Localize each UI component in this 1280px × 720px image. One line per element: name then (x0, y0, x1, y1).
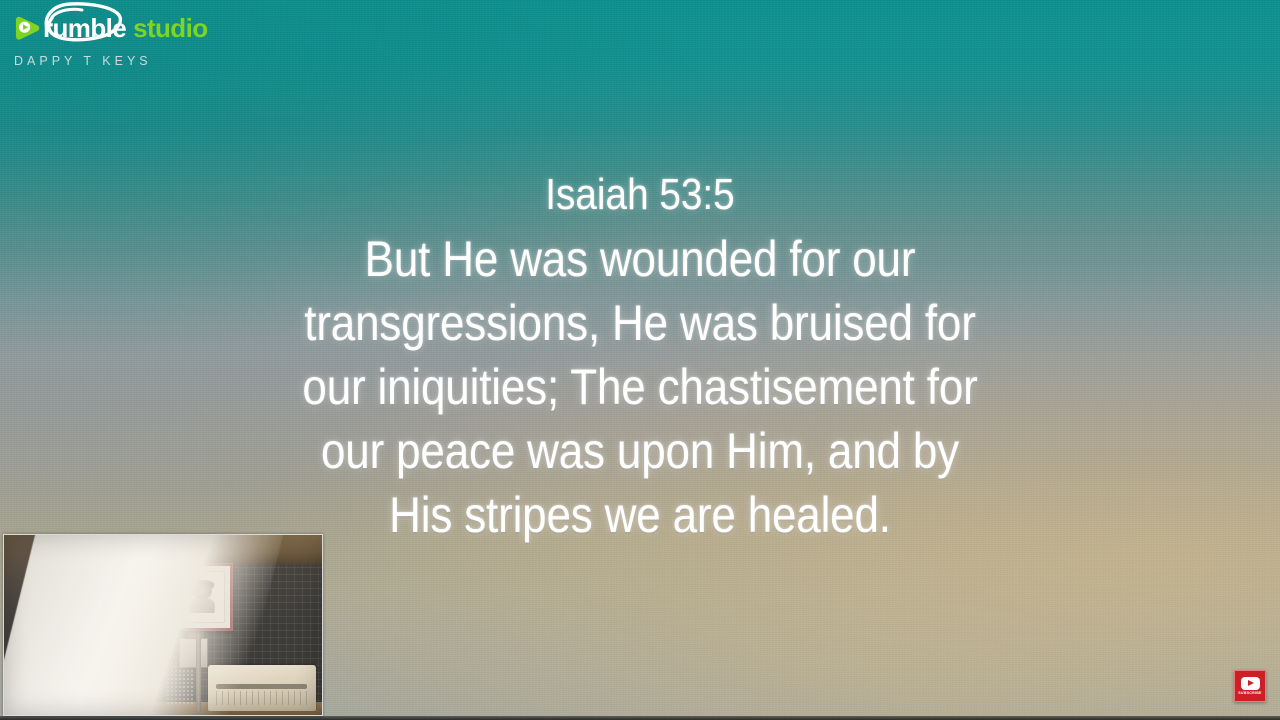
scripture-line: transgressions, He was bruised for (182, 291, 1097, 355)
scripture-line: our peace was upon Him, and by (182, 419, 1097, 483)
camera-scene (4, 535, 322, 715)
rumble-play-icon (12, 13, 42, 43)
brand-tagline: DAPPY T KEYS (14, 54, 312, 68)
youtube-play-icon (1241, 677, 1260, 690)
brand-logo-row: rumble studio (12, 6, 312, 50)
subscribe-button[interactable]: SUBSCRIBE (1234, 670, 1266, 702)
brand-name-secondary: studio (133, 15, 207, 41)
brand-name-primary: rumble (43, 15, 126, 41)
camera-curtain-shading (4, 535, 286, 715)
stream-canvas: rumble studio DAPPY T KEYS Isaiah 53:5 B… (0, 0, 1280, 720)
scripture-text-block: Isaiah 53:5 But He was wounded for our t… (0, 163, 1280, 547)
brand-watermark: rumble studio DAPPY T KEYS (12, 6, 312, 68)
camera-feed-overlay[interactable] (3, 534, 323, 716)
scripture-reference: Isaiah 53:5 (182, 163, 1097, 227)
brand-wordmark: rumble studio (43, 15, 207, 41)
scripture-line: our iniquities; The chastisement for (182, 355, 1097, 419)
background-bottom-edge (0, 716, 1280, 720)
scripture-line: But He was wounded for our (182, 227, 1097, 291)
subscribe-label: SUBSCRIBE (1238, 692, 1261, 696)
